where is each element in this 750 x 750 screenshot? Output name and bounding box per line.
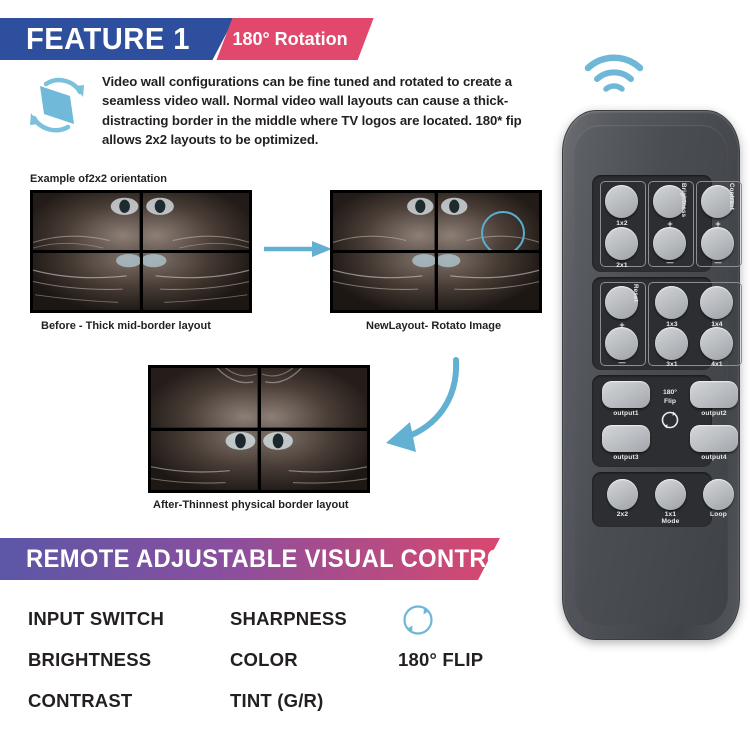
video-wall-after (148, 365, 370, 493)
control-color: COLOR (230, 649, 398, 671)
button-2x2[interactable] (607, 479, 638, 510)
wall-cell (33, 193, 140, 250)
flip-icon-cell (398, 599, 528, 639)
wall-cell (143, 253, 250, 310)
remote-panel-layout-brightness-contrast: 1x2 2x1 Brightness + — Contrast + — (592, 175, 712, 272)
label-output3: output3 (600, 454, 652, 461)
label-180-flip-word: Flip (654, 398, 686, 406)
circular-arrow-icon (398, 599, 438, 639)
button-output3[interactable] (602, 425, 650, 452)
video-wall-before (30, 190, 252, 313)
caption-new-layout: NewLayout- Rotato Image (366, 320, 501, 332)
remote-panel-outputs: output1 output2 output3 output4 180° Fli… (592, 375, 712, 467)
label-reset-minus: — (600, 360, 644, 367)
controls-row: BRIGHTNESS COLOR 180° FLIP (28, 639, 528, 680)
label-loop: Loop (698, 511, 739, 518)
remote-faceplate: 1x2 2x1 Brightness + — Contrast + — (574, 125, 728, 625)
label-output2: output2 (688, 410, 740, 417)
feature-title: FEATURE 1 (26, 21, 190, 57)
control-input-switch: INPUT SWITCH (28, 608, 230, 630)
feature-banner-tag: 180° Rotation (216, 18, 373, 60)
control-180-flip: 180° FLIP (398, 649, 528, 671)
button-output1[interactable] (602, 381, 650, 408)
wifi-signal-icon (583, 52, 645, 100)
button-brightness-minus[interactable] (653, 227, 686, 260)
label-output1: output1 (600, 410, 652, 417)
label-3x1: 3x1 (650, 361, 694, 368)
arrow-curved-down-icon (372, 348, 487, 460)
wall-cell (151, 368, 258, 428)
label-contrast-minus: — (696, 260, 740, 267)
control-contrast: CONTRAST (28, 690, 230, 712)
button-1x2[interactable] (605, 185, 638, 218)
intro-block: Video wall configurations can be fine tu… (26, 72, 546, 150)
button-3x1[interactable] (655, 327, 688, 360)
label-brightness-minus: — (648, 260, 692, 267)
wall-cell (261, 368, 368, 428)
rotate-rectangle-icon (26, 72, 88, 138)
feature-banner-blue: FEATURE 1 (0, 18, 234, 60)
control-tint: TINT (G/R) (230, 690, 398, 712)
controls-row: CONTRAST TINT (G/R) (28, 680, 528, 721)
remote-control: 1x2 2x1 Brightness + — Contrast + — (562, 110, 740, 640)
label-reset: Reset (632, 284, 639, 302)
controls-banner: REMOTE ADJUSTABLE VISUAL CONTROLS (0, 538, 500, 580)
button-output4[interactable] (690, 425, 738, 452)
wall-cell (143, 193, 250, 250)
remote-panel-mode: 2x2 1x1 Mode Loop (592, 472, 712, 527)
button-1x1-mode[interactable] (655, 479, 686, 510)
label-brightness: Brightness (680, 183, 687, 217)
example-label: Example of2x2 orientation (30, 173, 167, 185)
label-output4: output4 (688, 454, 740, 461)
intro-paragraph: Video wall configurations can be fine tu… (102, 72, 542, 150)
button-2x1[interactable] (605, 227, 638, 260)
controls-banner-title: REMOTE ADJUSTABLE VISUAL CONTROLS (26, 545, 537, 574)
caption-after: After-Thinnest physical border layout (153, 499, 349, 511)
button-contrast-minus[interactable] (701, 227, 734, 260)
caption-before: Before - Thick mid-border layout (41, 320, 211, 332)
wall-cell (333, 253, 435, 310)
button-4x1[interactable] (700, 327, 733, 360)
button-reset-minus[interactable] (605, 327, 638, 360)
controls-list: INPUT SWITCH SHARPNESS BRIGHTNESS COLOR … (28, 598, 528, 721)
feature-banner: FEATURE 1 180° Rotation (0, 18, 374, 60)
highlight-circle-annotation (481, 211, 525, 250)
wall-cell (438, 253, 540, 310)
wall-cell-highlighted (438, 193, 540, 250)
controls-row: INPUT SWITCH SHARPNESS (28, 598, 528, 639)
control-sharpness: SHARPNESS (230, 608, 398, 630)
button-1x3[interactable] (655, 286, 688, 319)
infographic-page: FEATURE 1 180° Rotation Video wall confi… (0, 0, 750, 750)
wall-cell (33, 253, 140, 310)
button-loop[interactable] (703, 479, 734, 510)
label-contrast: Contrast (728, 183, 735, 210)
label-2x2: 2x2 (602, 511, 643, 518)
label-1x2: 1x2 (600, 220, 644, 227)
label-mode: Mode (650, 518, 691, 525)
control-brightness: BRIGHTNESS (28, 649, 230, 671)
feature-tag-label: 180° Rotation (232, 29, 347, 50)
button-output2[interactable] (690, 381, 738, 408)
label-4x1: 4x1 (695, 361, 739, 368)
button-1x4[interactable] (700, 286, 733, 319)
wall-cell (333, 193, 435, 250)
label-180-flip-deg: 180° (654, 389, 686, 397)
remote-panel-reset-layouts: Reset + — 1x3 1x4 3x1 4x1 (592, 277, 712, 370)
label-1x1: 1x1 (650, 511, 691, 518)
circular-arrow-icon (658, 408, 682, 432)
wall-cell (261, 431, 368, 491)
wall-cell (151, 431, 258, 491)
label-2x1: 2x1 (600, 262, 644, 269)
arrow-right-icon (264, 238, 334, 260)
video-wall-new-layout (330, 190, 542, 313)
